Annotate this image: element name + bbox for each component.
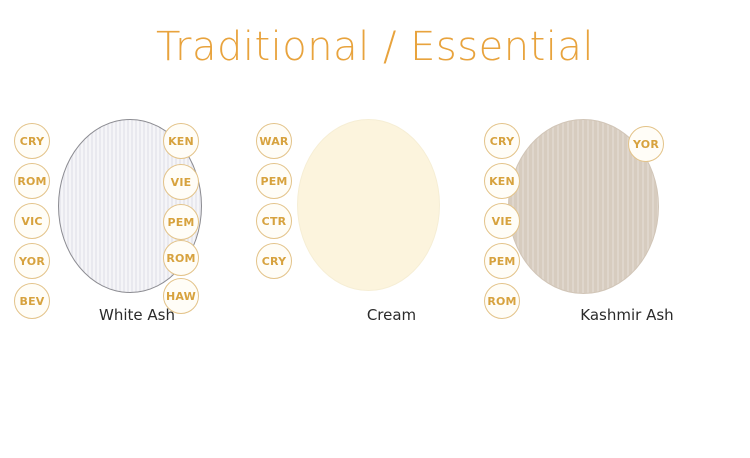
swatch-caption: Kashmir Ash bbox=[478, 306, 750, 324]
code-badge-label: CRY bbox=[262, 255, 287, 268]
swatch-group-white-ash[interactable]: CRY ROM VIC YOR BEV KEN VIE PEM bbox=[8, 110, 238, 300]
code-badge-label: HAW bbox=[166, 290, 196, 303]
code-badge-label: ROM bbox=[17, 175, 46, 188]
code-badge-label: PEM bbox=[260, 175, 287, 188]
code-badge-label: CTR bbox=[262, 215, 287, 228]
page-title: Traditional / Essential bbox=[0, 24, 750, 70]
color-swatch-board: Traditional / Essential CRY ROM VIC YOR … bbox=[0, 0, 750, 458]
code-badge-label: YOR bbox=[19, 255, 45, 268]
code-badge-label: ROM bbox=[166, 252, 195, 265]
code-badge[interactable]: CRY bbox=[484, 123, 520, 159]
code-badge-label: WAR bbox=[259, 135, 288, 148]
code-badge-label: VIE bbox=[171, 176, 192, 189]
swatch-group-cream[interactable]: WAR PEM CTR CRY Cream bbox=[250, 110, 465, 300]
code-badge[interactable]: ROM bbox=[14, 163, 50, 199]
code-badge[interactable]: VIC bbox=[14, 203, 50, 239]
code-badge[interactable]: PEM bbox=[484, 243, 520, 279]
swatch-group-kashmir-ash[interactable]: CRY KEN VIE PEM ROM YOR Kashmir Ash bbox=[478, 110, 728, 300]
code-badge-label: ROM bbox=[487, 295, 516, 308]
code-badge-label: YOR bbox=[633, 138, 659, 151]
code-badge-label: CRY bbox=[20, 135, 45, 148]
swatch-caption: Cream bbox=[250, 306, 499, 324]
code-badge-label: CRY bbox=[490, 135, 515, 148]
code-badge[interactable]: ROM bbox=[484, 283, 520, 319]
code-badge-label: PEM bbox=[488, 255, 515, 268]
code-badge[interactable]: YOR bbox=[628, 126, 664, 162]
code-badge-label: KEN bbox=[168, 135, 194, 148]
code-badge[interactable]: ROM bbox=[163, 240, 199, 276]
code-badge[interactable]: KEN bbox=[163, 123, 199, 159]
code-badge[interactable]: CTR bbox=[256, 203, 292, 239]
code-badge-label: VIE bbox=[492, 215, 513, 228]
code-badge[interactable]: CRY bbox=[14, 123, 50, 159]
code-badge[interactable]: VIE bbox=[484, 203, 520, 239]
swatch-stage: WAR PEM CTR CRY bbox=[250, 110, 465, 300]
color-disc-cream[interactable] bbox=[297, 119, 440, 291]
swatch-stage: CRY ROM VIC YOR BEV KEN VIE PEM bbox=[8, 110, 238, 300]
code-badge[interactable]: KEN bbox=[484, 163, 520, 199]
swatch-stage: CRY KEN VIE PEM ROM YOR bbox=[478, 110, 728, 300]
code-badge-label: KEN bbox=[489, 175, 515, 188]
code-badge[interactable]: VIE bbox=[163, 164, 199, 200]
code-badge[interactable]: CRY bbox=[256, 243, 292, 279]
code-badge[interactable]: PEM bbox=[256, 163, 292, 199]
code-badge-label: BEV bbox=[19, 295, 44, 308]
code-badge[interactable]: WAR bbox=[256, 123, 292, 159]
code-badge[interactable]: BEV bbox=[14, 283, 50, 319]
code-badge[interactable]: HAW bbox=[163, 278, 199, 314]
code-badge[interactable]: YOR bbox=[14, 243, 50, 279]
code-badge[interactable]: PEM bbox=[163, 204, 199, 240]
code-badge-label: PEM bbox=[167, 216, 194, 229]
code-badge-label: VIC bbox=[21, 215, 42, 228]
